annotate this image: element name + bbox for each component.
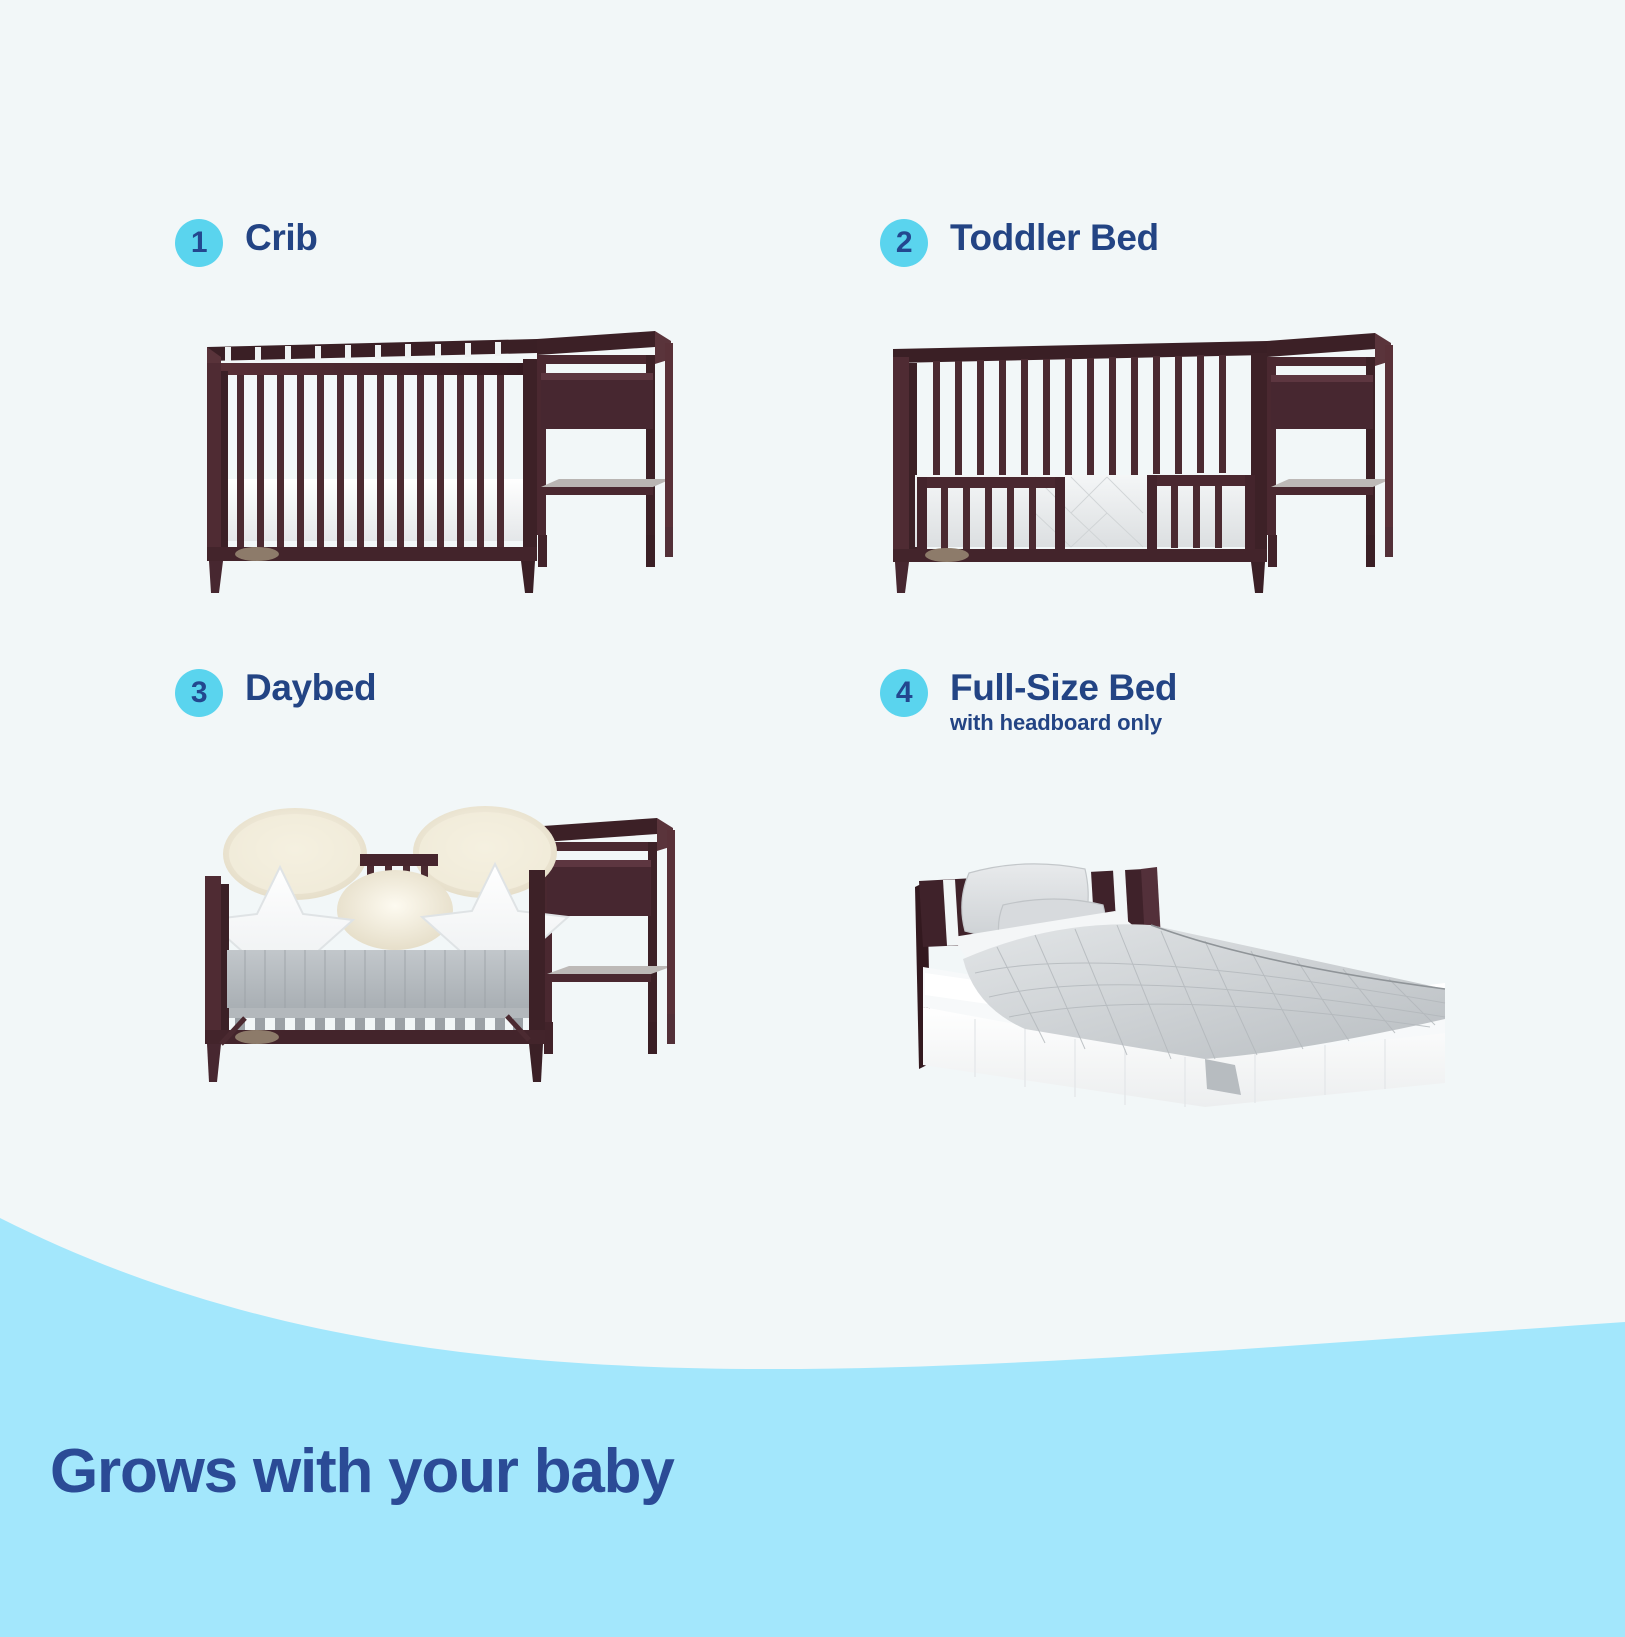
panel-full-size-bed: 4 Full-Size Bed with headboard only — [880, 665, 1560, 1095]
brand-plate-icon — [235, 547, 279, 561]
footer-headline: Grows with your baby — [50, 1436, 674, 1507]
panel-title-toddler-bed: Toddler Bed — [950, 217, 1159, 258]
changing-table-module — [543, 818, 675, 1054]
crib-frame — [207, 339, 537, 593]
panel-subtitle-full-size-bed: with headboard only — [950, 710, 1177, 736]
step-badge-2: 2 — [880, 219, 928, 267]
full-size-bed-illustration — [905, 807, 1465, 1107]
brand-plate-icon — [925, 548, 969, 562]
crib-illustration — [185, 327, 705, 597]
panel-heading: 2 Toddler Bed — [880, 215, 1560, 307]
daybed-illustration — [185, 792, 705, 1092]
fur-pillow-back-left — [223, 808, 367, 900]
panel-daybed: 3 Daybed — [175, 665, 815, 1095]
fur-pillow-center — [337, 870, 453, 950]
step-badge-1: 1 — [175, 219, 223, 267]
step-badge-3: 3 — [175, 669, 223, 717]
panel-title-daybed: Daybed — [245, 667, 376, 708]
panel-grid: 1 Crib — [0, 0, 1625, 1150]
infographic-canvas: 1 Crib — [0, 0, 1625, 1637]
toddler-bed-back-slats — [933, 355, 1226, 479]
panel-toddler-bed: 2 Toddler Bed — [880, 215, 1560, 615]
panel-heading: 1 Crib — [175, 215, 815, 307]
panel-title-crib: Crib — [245, 217, 317, 258]
toddler-bed-frame — [893, 341, 1267, 593]
panel-title-full-size-bed: Full-Size Bed — [950, 667, 1177, 708]
brand-plate-icon — [235, 1030, 279, 1044]
panel-heading: 4 Full-Size Bed with headboard only — [880, 665, 1560, 757]
changing-table-module — [1267, 333, 1393, 567]
changing-table-module — [537, 331, 673, 567]
knit-blanket — [227, 950, 529, 1030]
blanket-fringe — [229, 1008, 529, 1030]
panel-crib: 1 Crib — [175, 215, 815, 615]
toddler-bed-illustration — [875, 327, 1435, 597]
step-badge-4: 4 — [880, 669, 928, 717]
daybed-post-left — [205, 876, 221, 1034]
panel-heading: 3 Daybed — [175, 665, 815, 757]
daybed-post-right — [529, 870, 545, 1030]
